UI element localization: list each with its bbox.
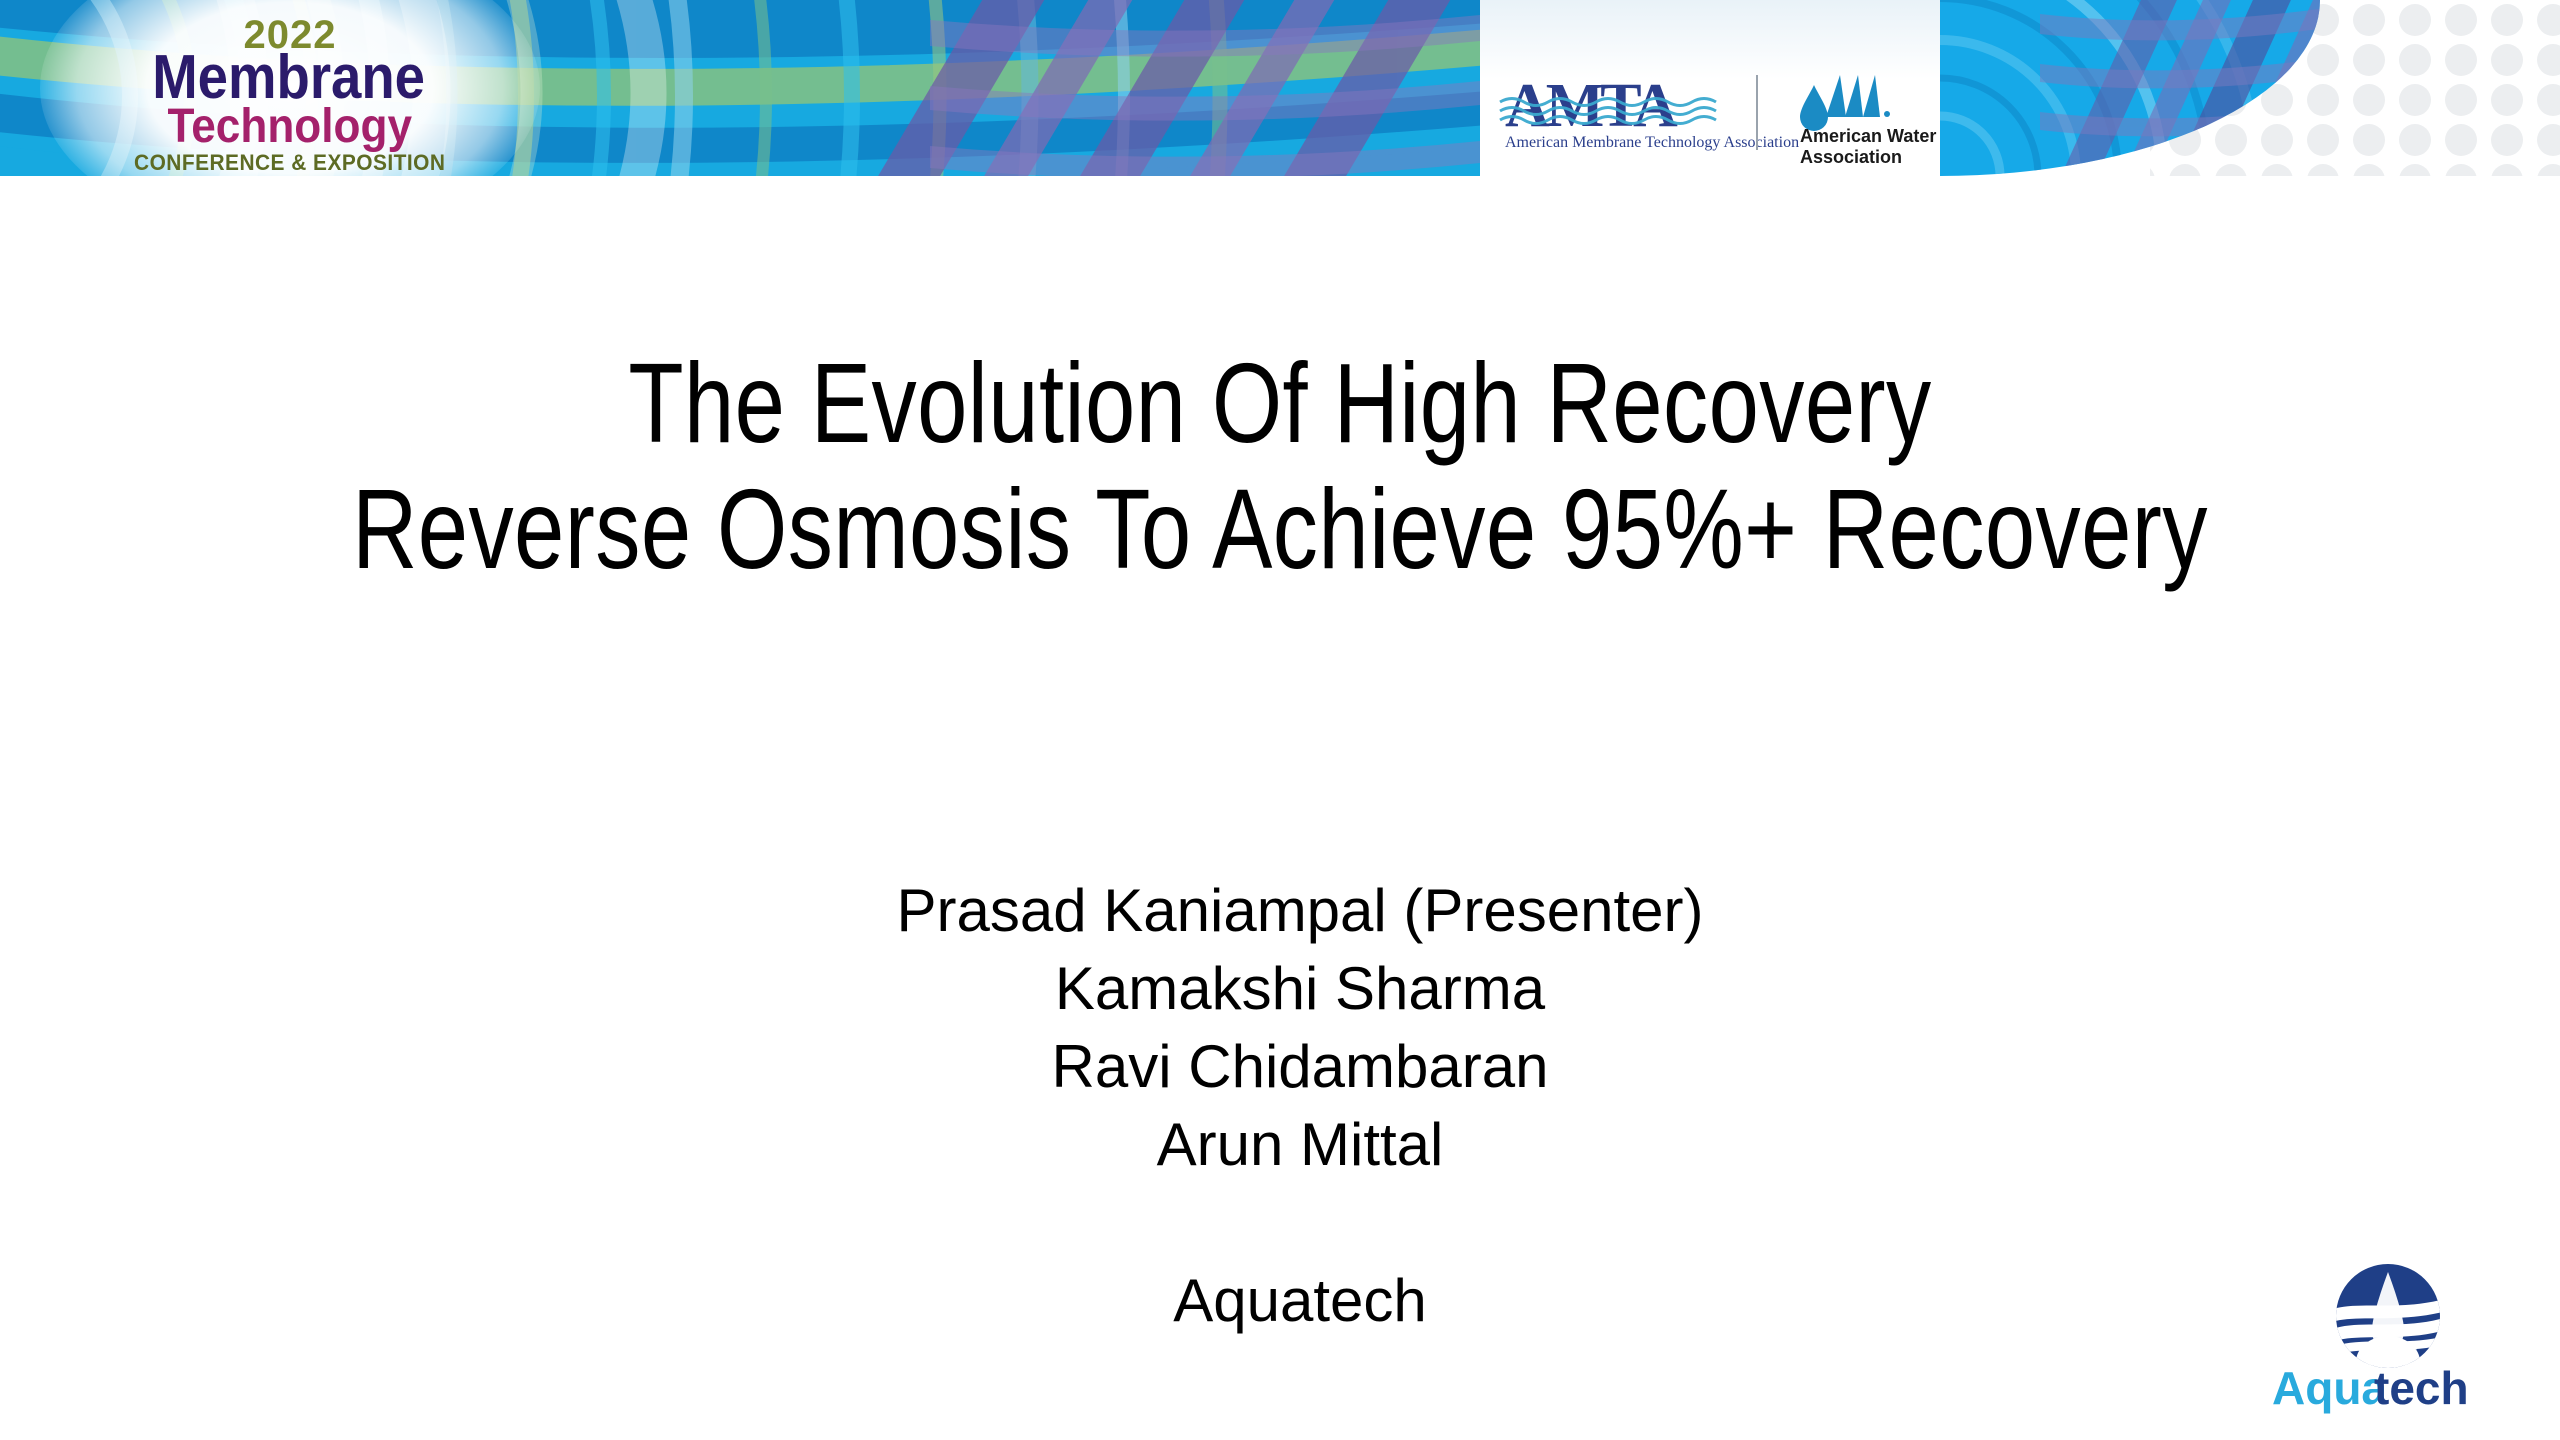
amta-full-name: American Membrane Technology Association — [1505, 134, 1799, 151]
logo-name-line2: Technology — [168, 98, 413, 152]
title-line-2: Reverse Osmosis To Achieve 95%+ Recovery — [256, 466, 2304, 592]
banner-graphic: 2022 Membrane Technology CONFERENCE & EX… — [0, 0, 2560, 186]
slide-title: The Evolution Of High Recovery Reverse O… — [0, 340, 2560, 592]
aquatech-logo-graphic: Aqua tech — [2252, 1258, 2524, 1418]
aquatech-wordmark-aqua: Aqua — [2272, 1362, 2387, 1414]
aquatech-wordmark-tech: tech — [2374, 1362, 2469, 1414]
conference-banner: 2022 Membrane Technology CONFERENCE & EX… — [0, 0, 2560, 186]
author-name-2: Kamakshi Sharma — [0, 950, 2560, 1028]
presentation-slide: 2022 Membrane Technology CONFERENCE & EX… — [0, 0, 2560, 1440]
author-list: Prasad Kaniampal (Presenter) Kamakshi Sh… — [0, 872, 2560, 1340]
logo-subtitle: CONFERENCE & EXPOSITION — [134, 151, 445, 176]
author-name-3: Ravi Chidambaran — [0, 1028, 2560, 1106]
author-name-presenter: Prasad Kaniampal (Presenter) — [0, 872, 2560, 950]
author-block-spacer — [0, 1184, 2560, 1262]
author-name-4: Arun Mittal — [0, 1106, 2560, 1184]
organization-name: Aquatech — [0, 1262, 2560, 1340]
title-line-1: The Evolution Of High Recovery — [256, 340, 2304, 466]
awwa-name-line2: Association — [1800, 147, 1902, 167]
aquatech-logo: Aqua tech — [2252, 1258, 2524, 1418]
